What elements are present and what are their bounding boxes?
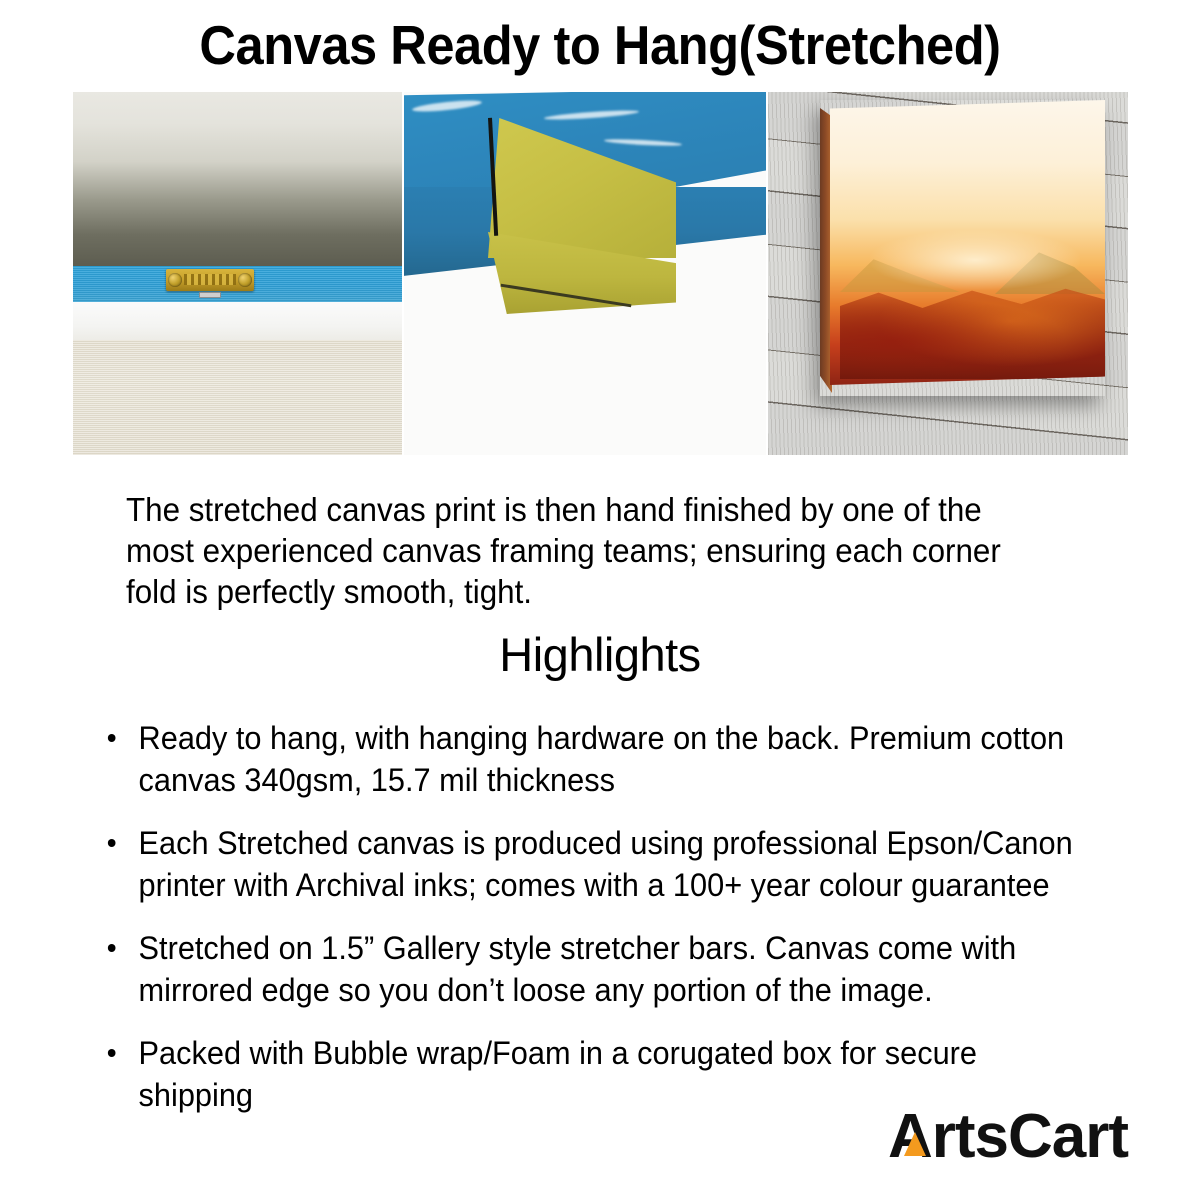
product-description: The stretched canvas print is then hand …: [126, 489, 1025, 612]
canvas-white-band: [73, 302, 402, 342]
triangle-icon: [904, 1132, 926, 1156]
list-item: Stretched on 1.5” Gallery style stretche…: [104, 927, 1074, 1011]
hanger-screw-left: [168, 273, 182, 287]
cloud-wisp: [412, 98, 482, 113]
highlights-heading: Highlights: [0, 627, 1200, 683]
cloud-wisp: [544, 109, 639, 122]
product-info-page: Canvas Ready to Hang(Stretched): [0, 0, 1200, 1200]
foreground-town: [840, 283, 1115, 379]
list-item-text: Ready to hang, with hanging hardware on …: [139, 720, 1065, 798]
sawtooth-hanger-icon: [166, 269, 254, 291]
canvas-cotton-surface: [73, 340, 402, 455]
page-title: Canvas Ready to Hang(Stretched): [48, 14, 1152, 76]
wall-hook: [199, 292, 221, 298]
bullet-dot-icon: [108, 839, 116, 847]
highlights-list: Ready to hang, with hanging hardware on …: [104, 717, 1114, 1137]
list-item-text: Stretched on 1.5” Gallery style stretche…: [139, 930, 1017, 1008]
hanger-screw-right: [238, 273, 252, 287]
brand-logo[interactable]: ArtsCart: [888, 1108, 1128, 1166]
list-item-text: Packed with Bubble wrap/Foam in a coruga…: [139, 1035, 977, 1113]
bullet-dot-icon: [108, 1049, 116, 1057]
gallery-image-canvas-hung-on-wall[interactable]: [768, 92, 1128, 455]
gallery-image-canvas-back-hanging-hardware[interactable]: [73, 92, 402, 455]
hanger-teeth: [184, 274, 236, 285]
bullet-dot-icon: [108, 944, 116, 952]
list-item: Each Stretched canvas is produced using …: [104, 822, 1074, 906]
sunset-landscape-print: [830, 100, 1105, 385]
list-item-text: Each Stretched canvas is produced using …: [139, 825, 1073, 903]
canvas-back-panel: [73, 92, 402, 266]
gallery-image-canvas-corner-fold[interactable]: [404, 92, 766, 455]
list-item: Ready to hang, with hanging hardware on …: [104, 717, 1074, 801]
sun-haze: [870, 230, 1080, 290]
hung-canvas-print: [820, 100, 1105, 396]
bullet-dot-icon: [108, 734, 116, 742]
cloud-wisp: [604, 138, 682, 147]
product-image-gallery: [73, 92, 1128, 455]
